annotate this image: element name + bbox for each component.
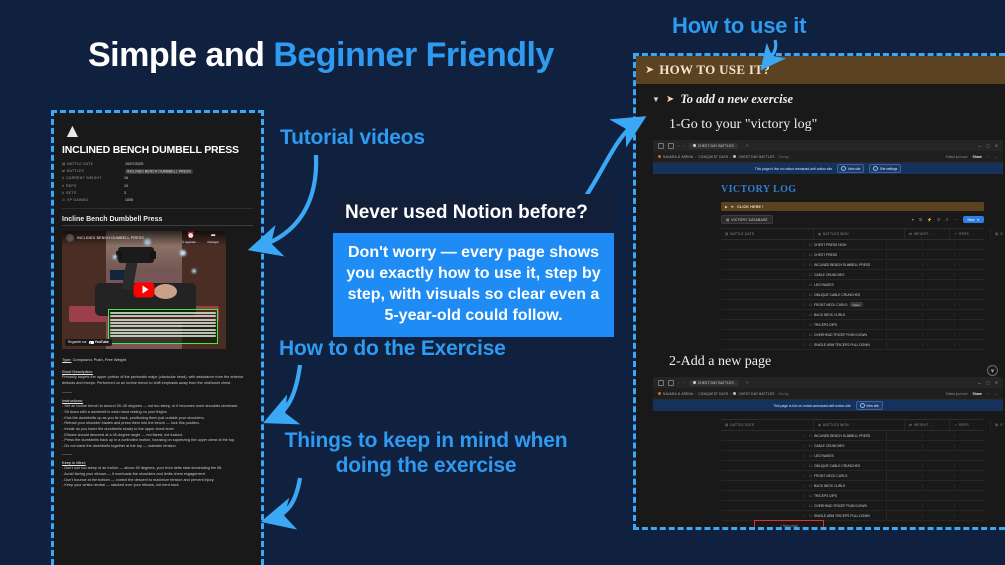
annotation-how-to-do-exercise: How to do the Exercise [279,337,506,362]
watch-later-button[interactable]: ⏰ À regarder ... [182,233,200,244]
page-title-part2: Beginner Friendly [273,36,554,74]
youtube-logo-icon [66,234,74,242]
share-label: Partager [207,240,219,244]
annotation-keep-in-mind-line2: doing the exercise [276,454,576,479]
annotation-tutorial-videos: Tutorial videos [280,126,425,151]
page-title-part1: Simple and [88,36,273,74]
annotation-how-to-use-it: How to use it [672,13,806,39]
annotation-keep-in-mind-line1: Things to keep in mind when [276,429,576,454]
share-icon: ➦ [211,233,216,239]
video-top-bar: INCLINED BENCH DUMBELL PRESS ⏰ À regarde… [62,231,226,246]
youtube-play-icon [89,341,94,345]
slide-canvas: Simple and Beginner Friendly How to use … [0,0,1005,565]
page-title: Simple and Beginner Friendly [88,36,554,75]
share-button[interactable]: ➦ Partager [207,233,219,244]
arrow-tutorial-videos [255,155,316,248]
right-panel-dashed-frame [633,53,1005,530]
video-title: INCLINED BENCH DUMBELL PRESS [77,236,182,240]
info-card-body: Don't worry — every page shows you exact… [333,233,614,337]
left-panel-dashed-frame [51,110,264,565]
youtube-label: YouTube [95,340,109,344]
info-card: Never used Notion before? Don't worry — … [333,194,614,337]
watch-on-label: Regarder sur [68,340,87,344]
annotation-things-to-keep-in-mind: Things to keep in mind when doing the ex… [276,429,576,479]
clock-icon: ⏰ [187,233,194,239]
info-card-heading: Never used Notion before? [333,194,614,233]
watch-later-label: À regarder ... [182,240,200,244]
arrow-things-to-keep-in-mind [268,478,300,520]
watch-on-youtube-button[interactable]: Regarder sur YouTube [65,339,112,346]
arrow-info-card-to-right-page [580,120,640,205]
arrow-how-to-do-exercise [270,365,300,420]
chevron-down-icon[interactable]: ▾ [987,365,998,376]
play-button-icon[interactable] [134,282,155,297]
